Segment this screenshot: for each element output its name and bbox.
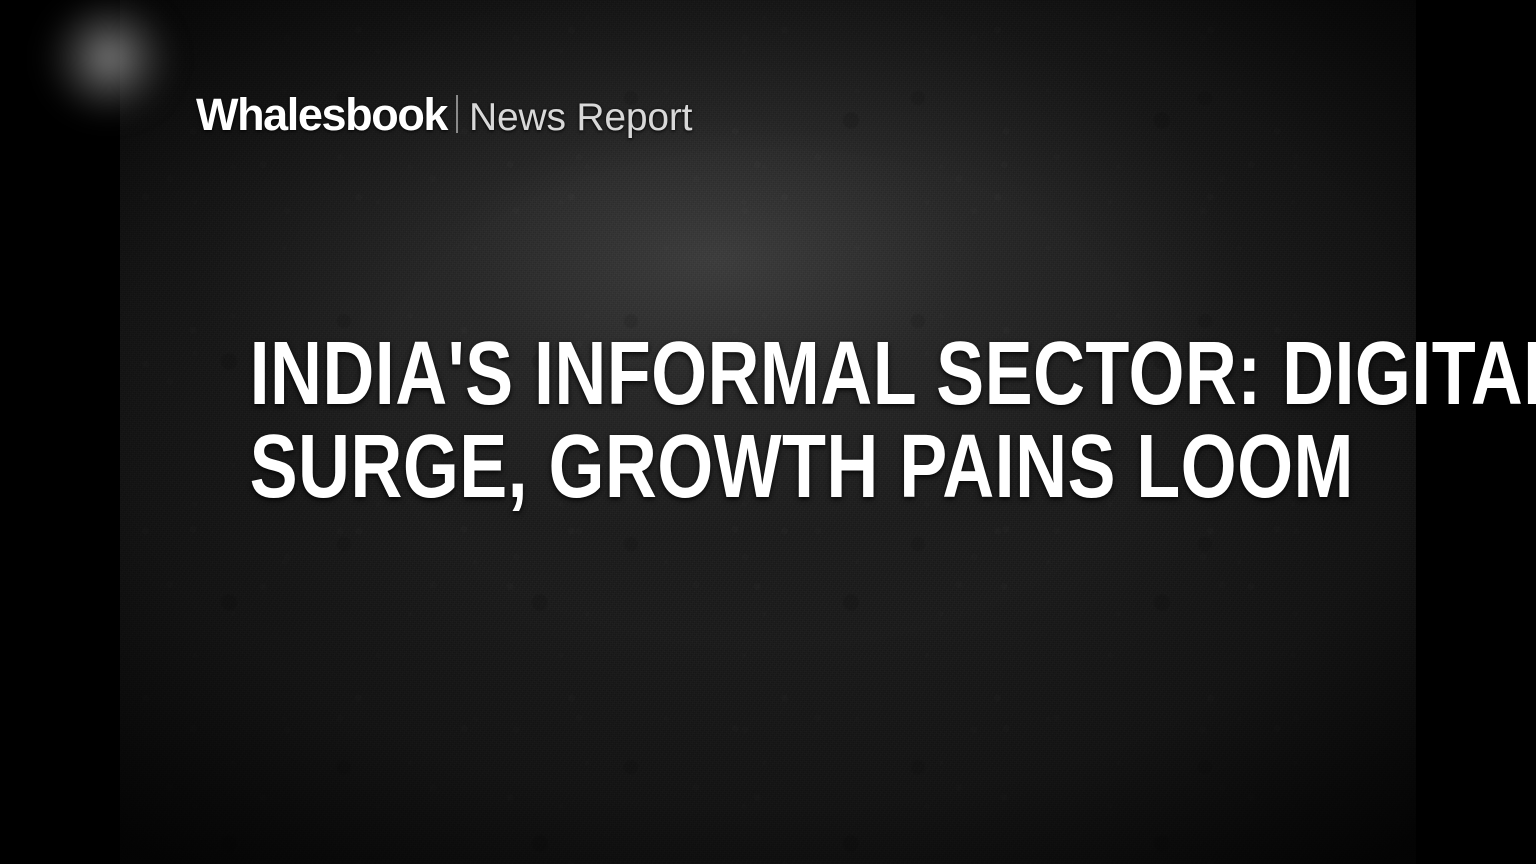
brand-name: Whalesbook [196, 92, 447, 137]
brand-divider [456, 95, 458, 133]
headline-line-1: India's Informal Sector: Digital [250, 328, 1287, 421]
letterbox-bar-right [1416, 0, 1536, 864]
headline-line-2: Surge, Growth Pains Loom [250, 421, 1287, 514]
brand-lockup: Whalesbook News Report [196, 92, 692, 137]
headline: India's Informal Sector: Digital Surge, … [120, 328, 1416, 514]
letterbox-bar-left [0, 0, 120, 864]
brand-kicker: News Report [469, 98, 692, 137]
news-report-card: Whalesbook News Report India's Informal … [0, 0, 1536, 864]
